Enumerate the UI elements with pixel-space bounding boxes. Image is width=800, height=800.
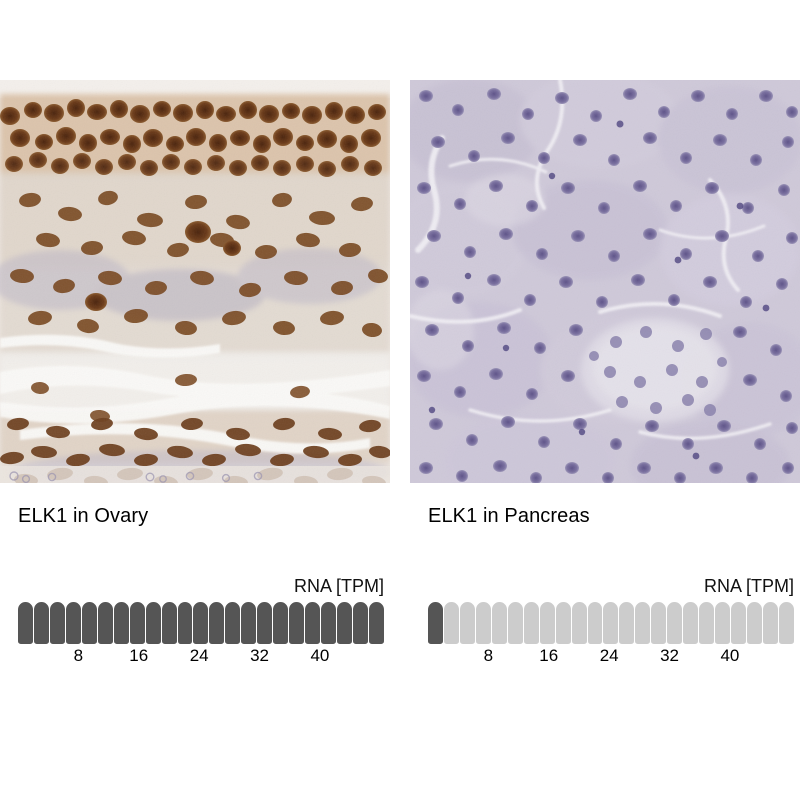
rna-pill xyxy=(50,602,65,644)
rna-pill-track-pancreas[interactable] xyxy=(428,602,794,644)
rna-tick-label: 16 xyxy=(539,646,558,666)
rna-pill xyxy=(114,602,129,644)
rna-pill xyxy=(369,602,384,644)
rna-pill xyxy=(241,602,256,644)
rna-pill xyxy=(289,602,304,644)
rna-pill xyxy=(225,602,240,644)
rna-pill xyxy=(18,602,33,644)
rna-pill xyxy=(130,602,145,644)
rna-tick-label: 8 xyxy=(74,646,83,666)
rna-pill xyxy=(572,602,587,644)
rna-pill xyxy=(82,602,97,644)
rna-pill xyxy=(193,602,208,644)
rna-pill xyxy=(305,602,320,644)
rna-pill xyxy=(492,602,507,644)
caption-pancreas: ELK1 in Pancreas xyxy=(428,505,590,528)
rna-pill xyxy=(444,602,459,644)
rna-pill xyxy=(337,602,352,644)
rna-pill xyxy=(162,602,177,644)
rna-tick-label: 8 xyxy=(484,646,493,666)
rna-pill xyxy=(715,602,730,644)
rna-pill xyxy=(699,602,714,644)
rna-pill xyxy=(747,602,762,644)
rna-pill xyxy=(98,602,113,644)
rna-pill xyxy=(588,602,603,644)
rna-pill-track-ovary[interactable] xyxy=(18,602,384,644)
rna-pill xyxy=(178,602,193,644)
rna-axis-label-ovary: RNA [TPM] xyxy=(18,575,384,597)
rna-pill xyxy=(731,602,746,644)
micrograph-ovary xyxy=(0,80,390,483)
rna-pill xyxy=(683,602,698,644)
micrograph-pancreas xyxy=(410,80,800,483)
rna-tick-label: 32 xyxy=(660,646,679,666)
rna-pill xyxy=(257,602,272,644)
rna-pill xyxy=(476,602,491,644)
rna-pill xyxy=(540,602,555,644)
rna-tick-row-ovary: 816243240 xyxy=(18,646,384,670)
micrograph-pancreas-canvas xyxy=(410,80,800,483)
rna-pill xyxy=(779,602,794,644)
rna-pill xyxy=(66,602,81,644)
rna-tick-label: 24 xyxy=(600,646,619,666)
page-root: ELK1 in Ovary RNA [TPM] 816243240 xyxy=(0,0,800,800)
rna-tick-label: 24 xyxy=(190,646,209,666)
rna-pill xyxy=(209,602,224,644)
rna-pill xyxy=(428,602,443,644)
rna-pill xyxy=(763,602,778,644)
rna-pill xyxy=(667,602,682,644)
rna-pill xyxy=(34,602,49,644)
rna-pill xyxy=(619,602,634,644)
rna-pill xyxy=(524,602,539,644)
rna-pill xyxy=(508,602,523,644)
rna-pill xyxy=(635,602,650,644)
panel-pancreas: ELK1 in Pancreas RNA [TPM] 816243240 xyxy=(410,0,800,800)
rna-tick-label: 16 xyxy=(129,646,148,666)
rna-tick-label: 40 xyxy=(720,646,739,666)
rna-pill xyxy=(353,602,368,644)
rna-pill xyxy=(321,602,336,644)
micrograph-ovary-canvas xyxy=(0,80,390,483)
rna-pill xyxy=(603,602,618,644)
rna-tick-label: 40 xyxy=(310,646,329,666)
rna-gauge-pancreas: RNA [TPM] 816243240 xyxy=(428,575,794,670)
caption-ovary: ELK1 in Ovary xyxy=(18,505,148,528)
rna-pill xyxy=(146,602,161,644)
rna-gauge-ovary: RNA [TPM] 816243240 xyxy=(18,575,384,670)
rna-axis-label-pancreas: RNA [TPM] xyxy=(428,575,794,597)
rna-tick-row-pancreas: 816243240 xyxy=(428,646,794,670)
rna-pill xyxy=(273,602,288,644)
rna-pill xyxy=(651,602,666,644)
panel-ovary: ELK1 in Ovary RNA [TPM] 816243240 xyxy=(0,0,390,800)
rna-pill xyxy=(460,602,475,644)
rna-tick-label: 32 xyxy=(250,646,269,666)
rna-pill xyxy=(556,602,571,644)
